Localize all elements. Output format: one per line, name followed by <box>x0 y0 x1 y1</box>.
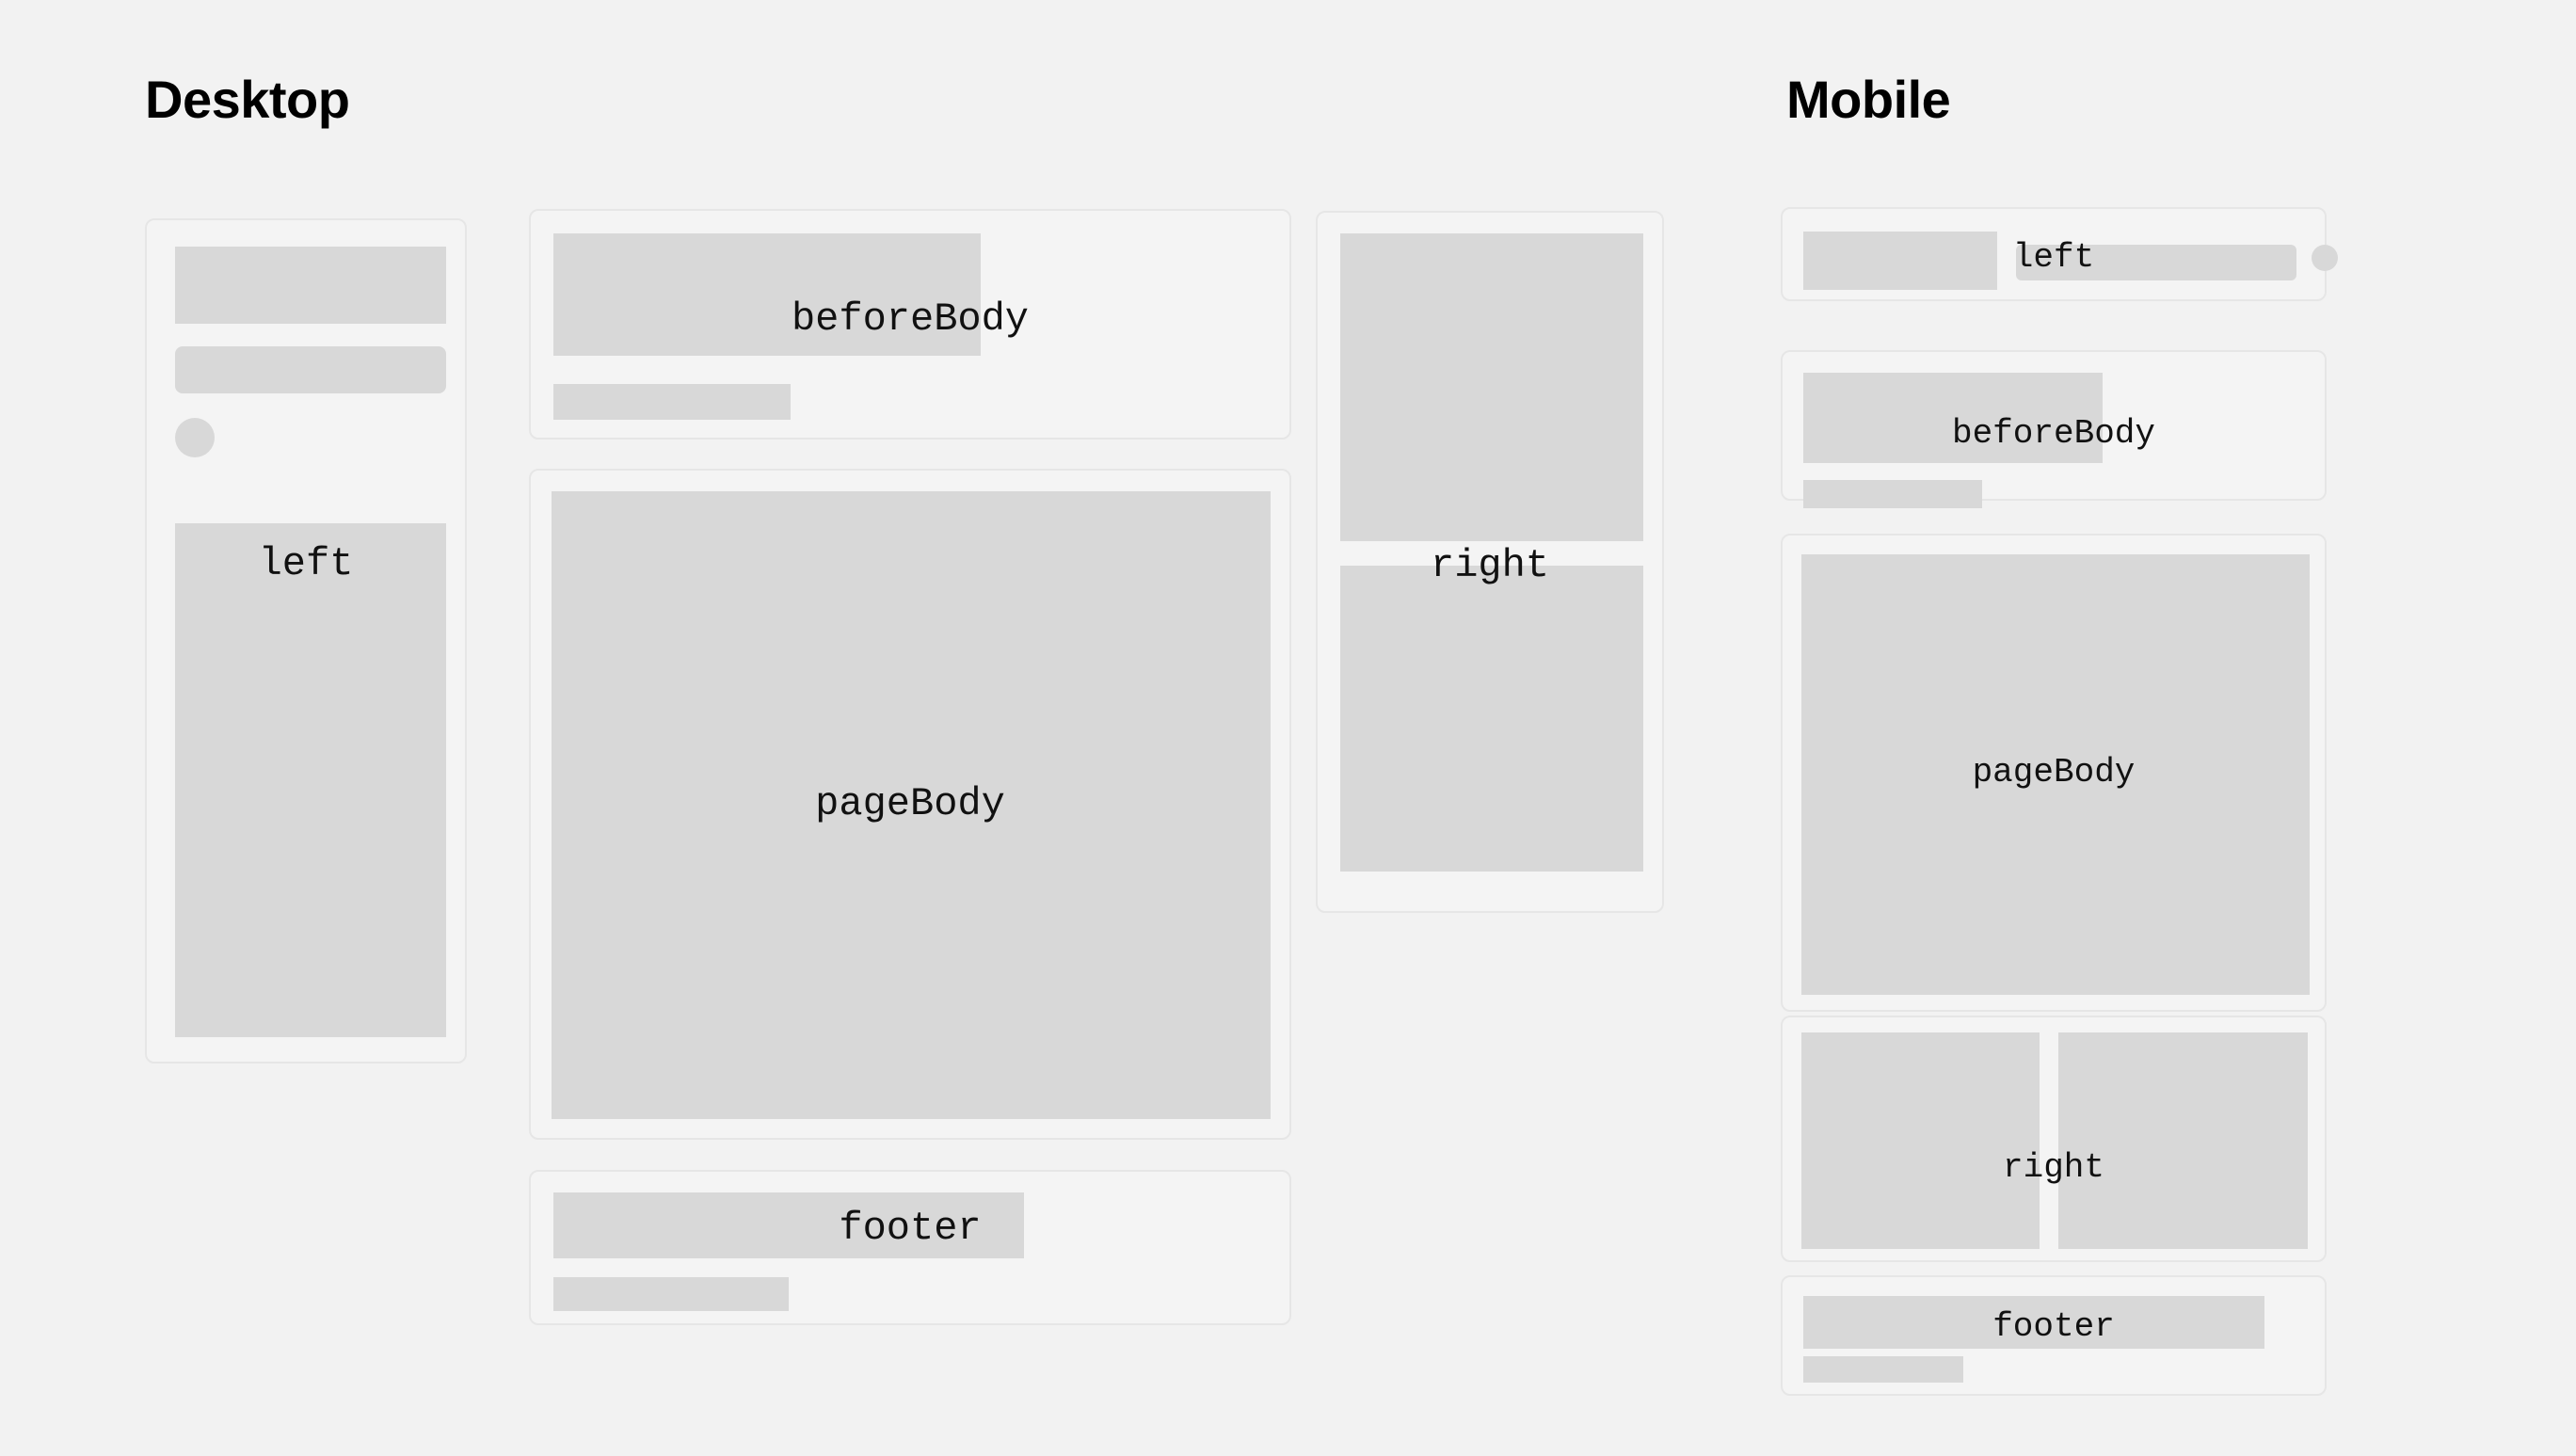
mobile-left-avatar-dot <box>2312 245 2338 271</box>
desktop-section-title: Desktop <box>145 73 349 126</box>
mobile-footer-secondary-block <box>1803 1356 1963 1383</box>
mobile-slot-beforebody-panel[interactable] <box>1781 350 2327 501</box>
desktop-left-header-block <box>175 247 446 324</box>
mobile-beforebody-banner-block <box>1803 373 2103 463</box>
desktop-right-widget-bottom-block <box>1340 566 1643 872</box>
mobile-slot-right-panel[interactable] <box>1781 1016 2327 1262</box>
desktop-slot-footer-panel[interactable] <box>529 1170 1291 1325</box>
desktop-left-nav-block <box>175 523 446 1037</box>
desktop-slot-right-panel[interactable] <box>1316 211 1664 913</box>
mobile-section-title: Mobile <box>1786 73 1950 126</box>
mobile-left-logo-block <box>1803 232 1997 290</box>
mobile-pagebody-content-block <box>1801 554 2310 995</box>
desktop-footer-primary-block <box>553 1192 1024 1258</box>
desktop-left-search-block <box>175 346 446 393</box>
mobile-slot-pagebody-panel[interactable] <box>1781 534 2327 1012</box>
mobile-right-widget-right-block <box>2058 1032 2308 1249</box>
desktop-footer-secondary-block <box>553 1277 789 1311</box>
desktop-slot-left-panel[interactable] <box>145 218 467 1064</box>
desktop-pagebody-content-block <box>552 491 1271 1119</box>
desktop-right-widget-top-block <box>1340 233 1643 541</box>
desktop-left-avatar-dot <box>175 418 215 457</box>
desktop-beforebody-caption-block <box>553 384 791 420</box>
mobile-right-widget-left-block <box>1801 1032 2040 1249</box>
mobile-beforebody-caption-block <box>1803 480 1982 508</box>
desktop-slot-beforebody-panel[interactable] <box>529 209 1291 440</box>
desktop-slot-pagebody-panel[interactable] <box>529 469 1291 1140</box>
mobile-left-search-block <box>2016 245 2296 280</box>
desktop-beforebody-banner-block <box>553 233 981 356</box>
layout-preview-stage: Desktop left beforeBody pageBody footer … <box>0 0 2576 1456</box>
mobile-slot-left-panel[interactable] <box>1781 207 2327 301</box>
mobile-slot-footer-panel[interactable] <box>1781 1275 2327 1396</box>
mobile-footer-primary-block <box>1803 1296 2264 1349</box>
